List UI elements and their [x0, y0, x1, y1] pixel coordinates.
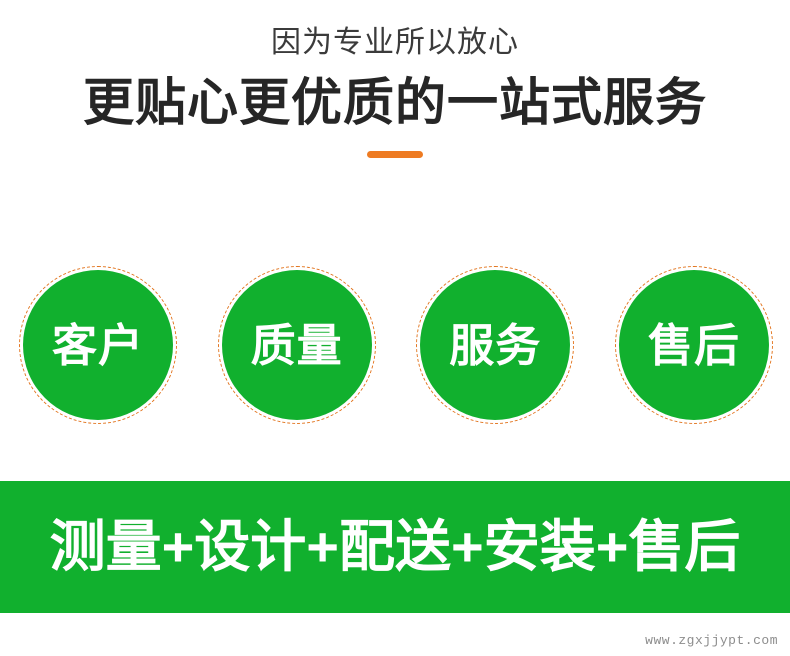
feature-circle-customer[interactable]: 客户 [19, 266, 177, 424]
feature-circle-label: 质量 [251, 323, 343, 368]
service-flow-banner: 测量+设计+配送+安装+售后 [0, 481, 790, 613]
feature-circles-row: 客户 质量 服务 售后 [19, 265, 773, 425]
watermark-url: www.zgxjjypt.com [645, 633, 778, 648]
circle-fill: 客户 [23, 270, 173, 420]
feature-circle-label: 服务 [449, 323, 541, 368]
page-title: 更贴心更优质的一站式服务 [0, 59, 790, 131]
header-subtitle: 因为专业所以放心 [0, 0, 790, 59]
feature-circle-label: 售后 [648, 323, 740, 368]
circle-fill: 售后 [619, 270, 769, 420]
divider-container [0, 131, 790, 158]
circle-fill: 服务 [420, 270, 570, 420]
feature-circle-label: 客户 [52, 323, 144, 368]
header-section: 因为专业所以放心 更贴心更优质的一站式服务 [0, 0, 790, 158]
service-flow-text: 测量+设计+配送+安装+售后 [50, 519, 741, 575]
feature-circle-quality[interactable]: 质量 [218, 266, 376, 424]
circle-fill: 质量 [222, 270, 372, 420]
feature-circle-aftersales[interactable]: 售后 [615, 266, 773, 424]
feature-circle-service[interactable]: 服务 [416, 266, 574, 424]
orange-divider-bar [367, 151, 423, 158]
